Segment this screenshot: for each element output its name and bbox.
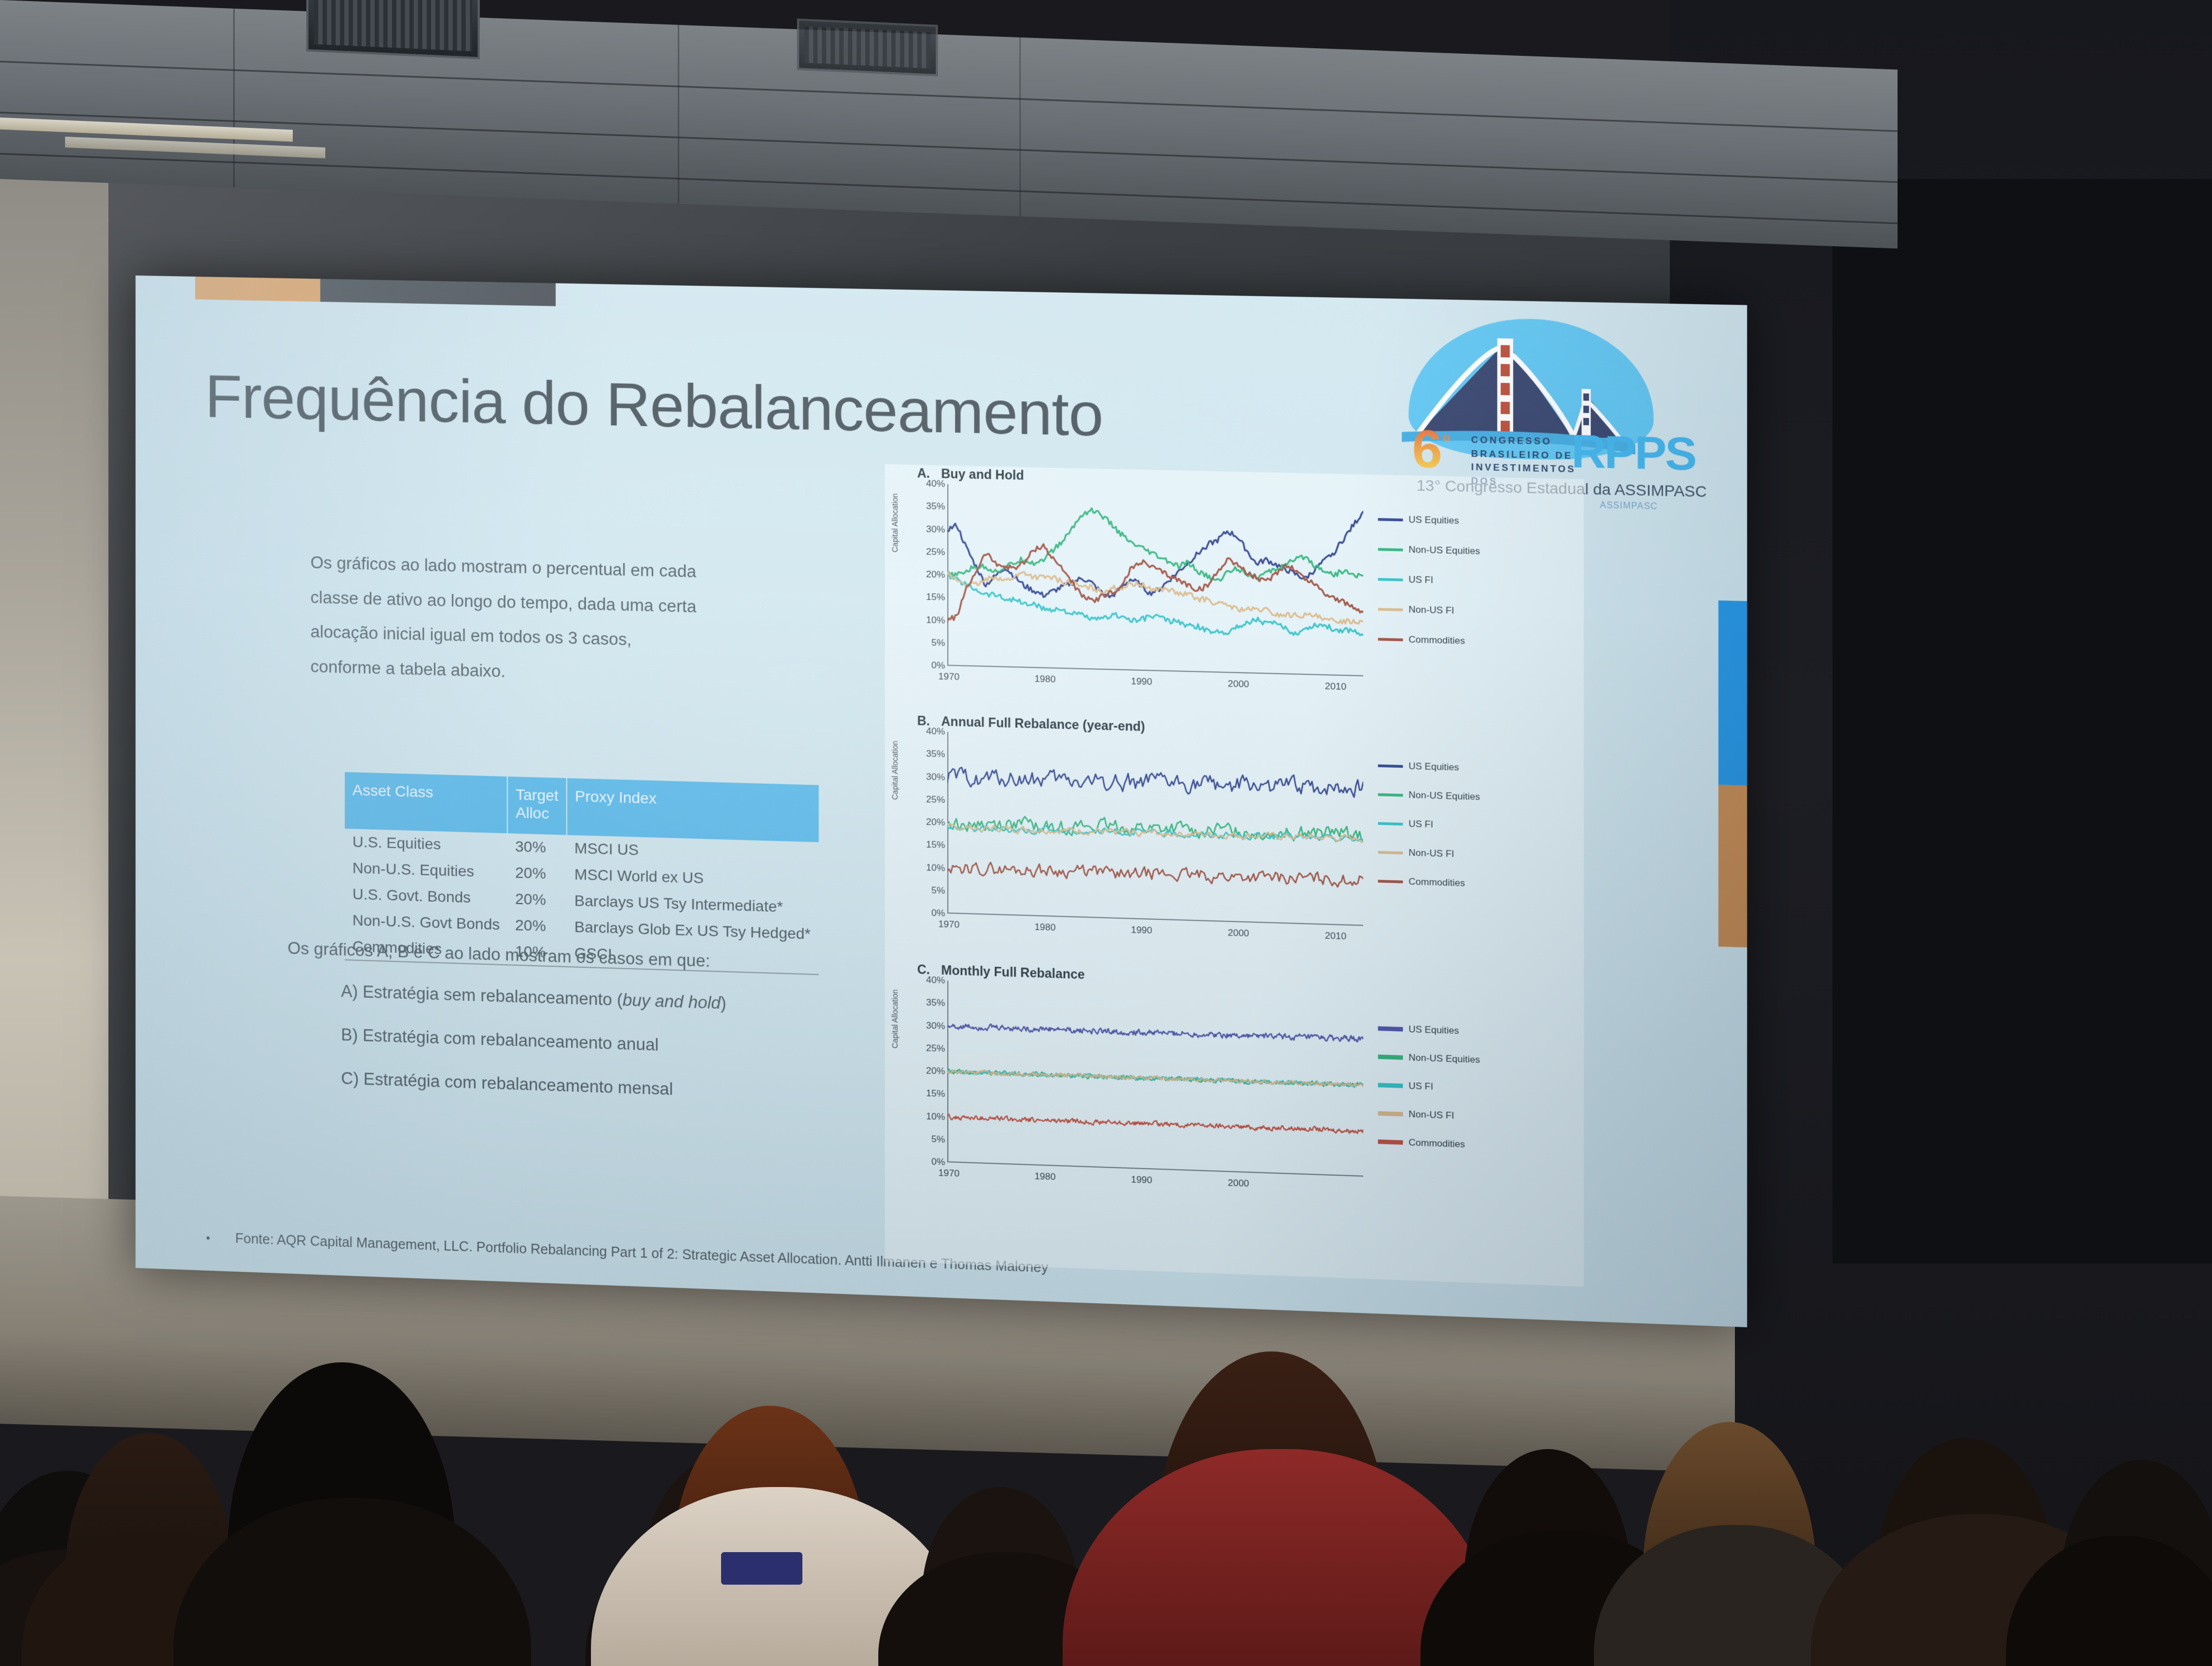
case-item: C) Estratégia com rebalanceamento mensal [341, 1068, 726, 1101]
logo-edition-number: 6° [1412, 426, 1451, 475]
case-text: Estratégia sem rebalanceamento ( [363, 982, 623, 1009]
y-tick-label: 15% [926, 592, 945, 603]
legend-swatch [1378, 1139, 1403, 1145]
case-key: C) [341, 1068, 364, 1088]
legend-label: Commodities [1409, 1137, 1465, 1150]
cell-target-alloc: 20% [507, 886, 567, 914]
y-tick-label: 20% [926, 569, 945, 580]
y-tick-label: 10% [926, 614, 945, 626]
legend-label: US Equities [1409, 514, 1459, 527]
case-emphasis: buy and hold [622, 990, 721, 1013]
y-tick-label: 5% [931, 1133, 945, 1145]
x-tick-label: 1970 [938, 1168, 960, 1180]
x-tick-label: 1970 [938, 919, 960, 930]
y-tick-label: 15% [926, 1088, 945, 1099]
chart-series [947, 484, 1363, 676]
legend-item: US Equities [1378, 514, 1566, 529]
series-line-commodities [947, 861, 1363, 888]
chart-legend: US EquitiesNon-US EquitiesUS FINon-US FI… [1378, 514, 1566, 668]
y-axis-ticks: 40%35%30%25%20%15%10%5%0% [902, 731, 945, 913]
legend-swatch [1378, 851, 1403, 854]
cell-asset-class: Non-U.S. Equities [345, 855, 507, 886]
legend-label: Commodities [1409, 876, 1465, 889]
chart-series [947, 732, 1363, 926]
chart-panel-c: C.Monthly Full RebalanceCapital Allocati… [885, 960, 1584, 1232]
x-tick-label: 2010 [1325, 931, 1346, 943]
legend-item: Non-US Equities [1378, 1051, 1566, 1068]
x-tick-label: 1980 [1034, 674, 1056, 685]
legend-label: US FI [1409, 1080, 1433, 1092]
y-axis-label: Capital Allocation [890, 741, 899, 800]
legend-item: US FI [1378, 818, 1566, 834]
x-tick-label: 2000 [1228, 678, 1249, 690]
page-title: Frequência do Rebalanceamento [205, 361, 1103, 450]
y-tick-label: 40% [926, 975, 945, 986]
legend-item: Commodities [1378, 633, 1566, 649]
decor-slate-block [320, 279, 556, 306]
y-axis-label: Capital Allocation [890, 493, 899, 552]
chart-legend: US EquitiesNon-US EquitiesUS FINon-US FI… [1378, 760, 1566, 909]
y-tick-label: 30% [926, 1020, 945, 1031]
chart-panel-b: B.Annual Full Rebalance (year-end)Capita… [885, 712, 1584, 981]
decor-orange-block [195, 277, 320, 302]
y-tick-label: 15% [926, 840, 945, 851]
logo-acronym: RPPS [1571, 430, 1695, 476]
legend-label: Non-US Equities [1409, 544, 1480, 558]
y-tick-label: 5% [931, 637, 945, 649]
y-tick-label: 40% [926, 478, 945, 490]
legend-item: US Equities [1378, 1023, 1566, 1040]
legend-label: US Equities [1409, 1024, 1459, 1036]
y-tick-label: 20% [926, 1065, 945, 1077]
y-tick-label: 35% [926, 997, 945, 1009]
plot-area: Capital Allocation40%35%30%25%20%15%10%5… [885, 979, 1584, 1223]
legend-item: US FI [1378, 1080, 1566, 1097]
legend-label: US FI [1409, 574, 1433, 586]
decor-right-blue-bar [1719, 600, 1747, 785]
case-text: Estratégia com rebalanceamento anual [363, 1026, 659, 1054]
x-tick-label: 2000 [1228, 1177, 1249, 1189]
legend-item: Non-US FI [1378, 604, 1566, 619]
series-line-commodities [947, 1114, 1363, 1135]
legend-item: Non-US Equities [1378, 789, 1566, 805]
x-tick-label: 1990 [1131, 676, 1152, 688]
x-tick-label: 1980 [1034, 922, 1056, 934]
legend-swatch [1378, 518, 1403, 521]
legend-label: Non-US Equities [1409, 790, 1480, 803]
legend-item: Non-US Equities [1378, 543, 1566, 559]
x-tick-label: 2000 [1228, 927, 1249, 939]
y-tick-label: 25% [926, 794, 945, 805]
presentation-slide: Frequência do Rebalanceamento [136, 275, 1747, 1327]
legend-swatch [1378, 578, 1403, 581]
y-tick-label: 0% [931, 1156, 945, 1168]
y-tick-label: 10% [926, 862, 945, 874]
x-tick-label: 1990 [1131, 1174, 1152, 1186]
x-tick-label: 1980 [1034, 1171, 1056, 1183]
legend-swatch [1378, 638, 1403, 641]
legend-swatch [1378, 1026, 1403, 1031]
y-tick-label: 35% [926, 748, 945, 760]
y-tick-label: 20% [926, 817, 945, 828]
legend-item: US Equities [1378, 760, 1566, 776]
legend-item: US FI [1378, 574, 1566, 589]
case-text: Estratégia com rebalanceamento mensal [364, 1069, 673, 1099]
y-tick-label: 25% [926, 1043, 945, 1054]
case-key: A) [341, 982, 363, 1001]
th-asset-class: Asset Class [345, 772, 507, 834]
legend-swatch [1378, 880, 1403, 883]
legend-label: Non-US FI [1409, 604, 1454, 616]
legend-label: US Equities [1409, 761, 1459, 773]
legend-label: Non-US FI [1409, 1109, 1454, 1122]
legend-swatch [1378, 1083, 1403, 1088]
y-tick-label: 40% [926, 726, 945, 737]
legend-label: Non-US FI [1409, 847, 1454, 860]
y-tick-label: 30% [926, 771, 945, 783]
decor-right-orange-bar [1719, 785, 1747, 947]
projection-screen: Frequência do Rebalanceamento [136, 275, 1747, 1327]
th-target-alloc: TargetAlloc [507, 777, 567, 835]
y-axis-ticks: 40%35%30%25%20%15%10%5%0% [902, 979, 945, 1162]
legend-swatch [1378, 548, 1403, 551]
y-tick-label: 5% [931, 885, 945, 896]
plot-area: Capital Allocation40%35%30%25%20%15%10%5… [885, 731, 1584, 972]
cell-target-alloc: 20% [507, 860, 567, 888]
y-tick-label: 0% [931, 660, 945, 671]
x-tick-label: 1990 [1131, 925, 1152, 937]
y-axis-label: Capital Allocation [890, 989, 899, 1048]
case-item: A) Estratégia sem rebalanceamento (buy a… [341, 982, 726, 1014]
legend-swatch [1378, 607, 1403, 611]
legend-swatch [1378, 793, 1403, 796]
chart-legend: US EquitiesNon-US EquitiesUS FINon-US FI… [1378, 1023, 1566, 1171]
cell-asset-class: U.S. Equities [345, 829, 507, 860]
x-tick-label: 1970 [938, 671, 960, 683]
intro-paragraph: Os gráficos ao lado mostram o percentual… [311, 546, 706, 694]
legend-swatch [1378, 822, 1403, 825]
legend-swatch [1378, 1111, 1403, 1117]
right-dark-panel [1832, 179, 2212, 1264]
cases-list: A) Estratégia sem rebalanceamento (buy a… [341, 982, 726, 1125]
air-vent-icon [797, 18, 938, 76]
chart-series [947, 981, 1363, 1176]
cell-target-alloc: 30% [507, 834, 567, 862]
bullet-icon: • [206, 1231, 210, 1245]
legend-label: Non-US Equities [1409, 1052, 1480, 1066]
case-key: B) [341, 1025, 363, 1045]
th-proxy-index: Proxy Index [567, 778, 818, 842]
air-vent-icon [306, 0, 480, 59]
cell-target-alloc: 20% [507, 912, 567, 940]
congress-logo: 6° CONGRESSO BRASILEIRO DE INVESTIMENTOS… [1385, 314, 1681, 492]
charts-panel: A.Buy and HoldCapital Allocation40%35%30… [885, 464, 1584, 1287]
legend-item: Non-US FI [1378, 847, 1566, 863]
series-line-us-fi [947, 574, 1363, 638]
y-axis-ticks: 40%35%30%25%20%15%10%5%0% [902, 483, 945, 666]
y-tick-label: 30% [926, 523, 945, 535]
series-line-us-equities [947, 766, 1363, 799]
legend-item: Non-US FI [1378, 1108, 1566, 1125]
legend-swatch [1378, 764, 1403, 767]
case-item: B) Estratégia com rebalanceamento anual [341, 1025, 726, 1057]
y-tick-label: 10% [926, 1111, 945, 1122]
legend-label: US FI [1409, 818, 1433, 830]
legend-item: Commodities [1378, 1136, 1566, 1154]
case-tail: ) [721, 994, 726, 1013]
legend-item: Commodities [1378, 875, 1566, 892]
series-line-us-fi [947, 1069, 1363, 1088]
x-axis-ticks: 19701980199020002010 [949, 671, 1353, 701]
x-tick-label: 2010 [1325, 681, 1346, 693]
plot-area: Capital Allocation40%35%30%25%20%15%10%5… [885, 483, 1584, 721]
y-tick-label: 0% [931, 908, 945, 919]
legend-swatch [1378, 1055, 1403, 1060]
series-line-us-equities [947, 1023, 1363, 1043]
logo-sub-line: ASSIMPASC [1600, 501, 1658, 512]
legend-label: Commodities [1409, 634, 1465, 646]
chart-panel-a: A.Buy and HoldCapital Allocation40%35%30… [885, 464, 1584, 730]
y-tick-label: 25% [926, 546, 945, 558]
y-tick-label: 35% [926, 501, 945, 512]
